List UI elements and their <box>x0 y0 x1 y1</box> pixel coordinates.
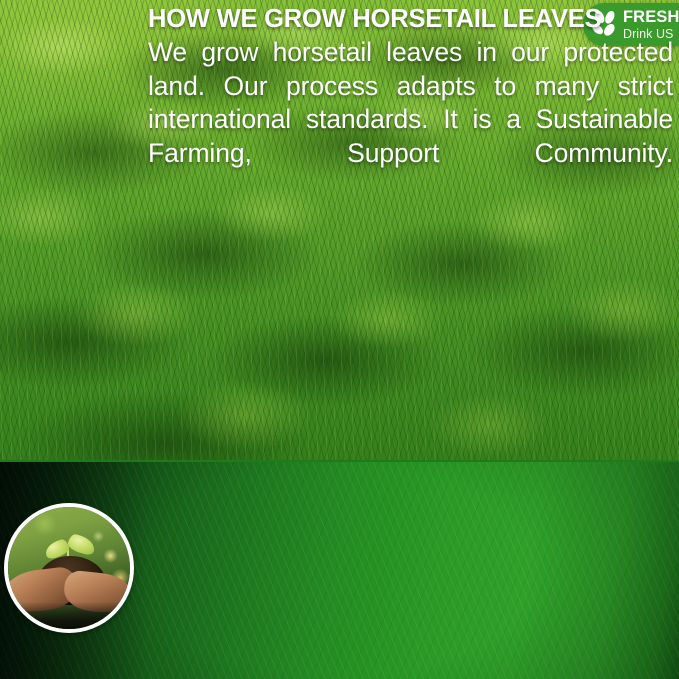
hands-holding-soil-seedling-photo <box>4 503 134 633</box>
panel-body-text: We grow horsetail leaves in our protecte… <box>148 36 679 204</box>
photo-bottom-shadow <box>8 602 130 629</box>
product-infographic-card: FRESH Drink US HOW WE GROW HORSETAIL LEA… <box>0 0 679 679</box>
panel-text-block: HOW WE GROW HORSETAIL LEAVES We grow hor… <box>148 0 679 217</box>
panel-heading: HOW WE GROW HORSETAIL LEAVES <box>148 5 679 34</box>
